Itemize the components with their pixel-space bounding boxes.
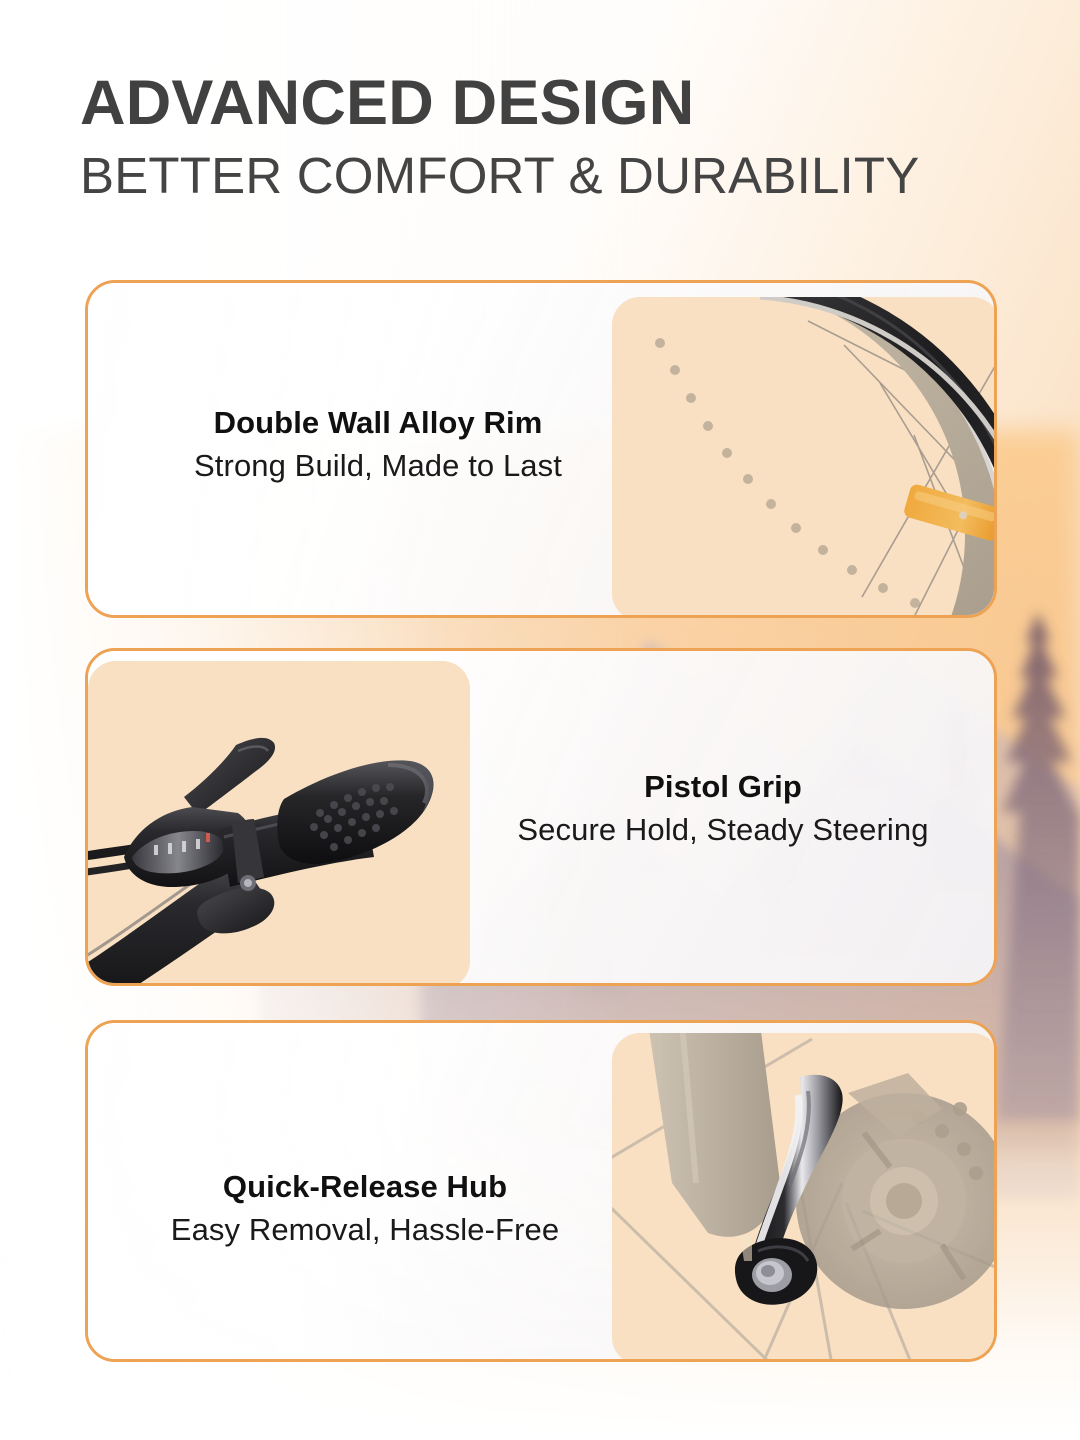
feature-subtitle: Strong Build, Made to Last [148,450,608,481]
page-subtitle: BETTER COMFORT & DURABILITY [80,150,919,201]
feature-title: Pistol Grip [483,771,963,802]
bicycle-wheel-rim-photo [612,297,997,618]
feature-subtitle: Easy Removal, Hassle-Free [130,1214,600,1245]
feature-card-double-wall-alloy-rim[interactable]: Double Wall Alloy Rim Strong Build, Made… [85,280,997,618]
handlebar-pistol-grip-shifter-photo [88,661,470,986]
feature-card-pistol-grip[interactable]: Pistol Grip Secure Hold, Steady Steering [85,648,997,986]
page-title: ADVANCED DESIGN [80,72,694,135]
feature-title: Quick-Release Hub [130,1171,600,1202]
feature-card-quick-release-hub[interactable]: Quick-Release Hub Easy Removal, Hassle-F… [85,1020,997,1362]
feature-text-block: Double Wall Alloy Rim Strong Build, Made… [148,407,608,481]
feature-text-block: Pistol Grip Secure Hold, Steady Steering [483,771,963,845]
quick-release-hub-lever-photo [612,1033,997,1362]
feature-subtitle: Secure Hold, Steady Steering [483,814,963,845]
feature-text-block: Quick-Release Hub Easy Removal, Hassle-F… [130,1171,600,1245]
feature-title: Double Wall Alloy Rim [148,407,608,438]
